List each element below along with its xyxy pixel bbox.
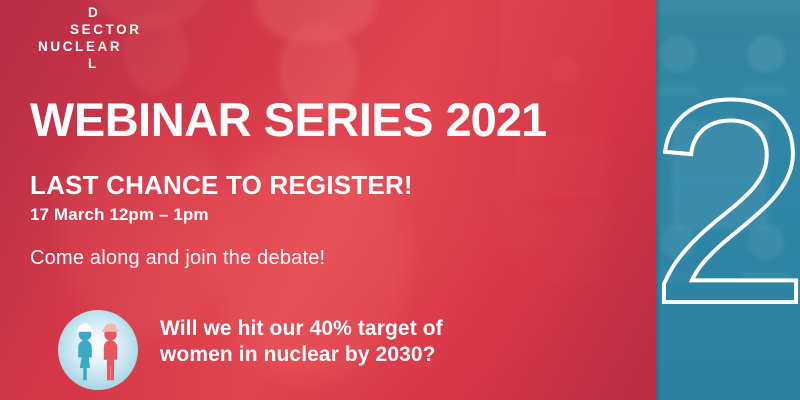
logo-row-2: SECTOR (38, 23, 142, 40)
webinar-promo-banner: D SECTOR NUCLEAR L WEBINAR SERIES 2021 L… (0, 0, 800, 400)
logo-row-1: D (38, 6, 142, 23)
webinar-question: Will we hit our 40% target of women in n… (160, 316, 443, 367)
subheading-register: LAST CHANCE TO REGISTER! (30, 172, 413, 198)
male-hard-hat (102, 323, 119, 332)
female-worker-figure (78, 328, 92, 380)
headline-light-part: WEBINAR SERIES (30, 93, 446, 146)
male-worker-figure (104, 328, 117, 380)
numeral-2-outline: 2 (656, 40, 800, 364)
question-line-2: women in nuclear by 2030? (160, 342, 443, 368)
two-workers-icon (58, 310, 138, 390)
female-hard-hat (77, 323, 94, 332)
tagline: Come along and join the debate! (30, 248, 325, 268)
logo-row-3: NUCLEAR (38, 40, 142, 57)
logo-row-4: L (38, 57, 142, 74)
page-title: WEBINAR SERIES 2021 (30, 96, 546, 143)
episode-number-2: 2 (656, 0, 800, 400)
teal-accent-panel: 2 (656, 0, 800, 400)
event-datetime: 17 March 12pm – 1pm (30, 206, 209, 223)
question-line-1: Will we hit our 40% target of (160, 316, 443, 342)
headline-year: 2021 (446, 93, 547, 146)
nuclear-sector-deal-logo: D SECTOR NUCLEAR L (38, 6, 142, 74)
